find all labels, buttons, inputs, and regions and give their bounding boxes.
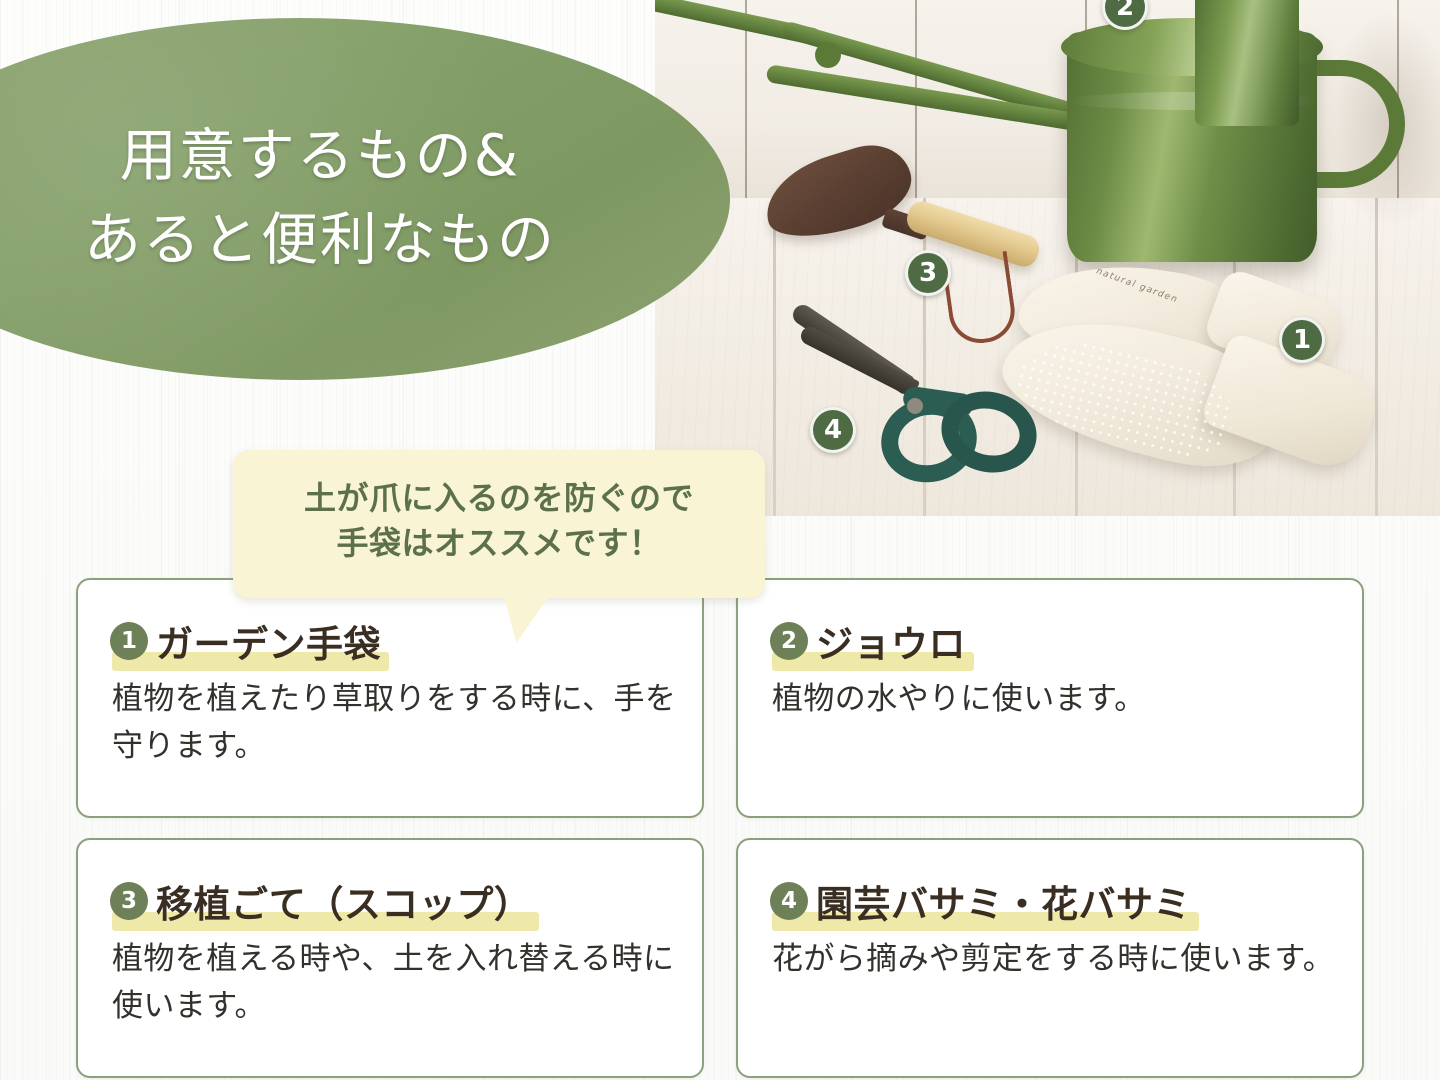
page-title-line-1: 用意するもの& [0,114,730,198]
photo-badge-3: 3 [905,250,951,296]
card-number-badge: 1 [110,622,148,660]
photo-deck-seam [773,198,776,516]
card-title: 移植ごて（スコップ） [156,874,531,928]
infographic-page: Bonheur le jardin enchanté natural garde… [0,0,1440,1080]
card-description: 植物を植える時や、土を入れ替える時に使います。 [112,936,678,1030]
item-card-trowel[interactable]: 3 移植ごて（スコップ） 植物を植える時や、土を入れ替える時に使います。 [76,838,704,1078]
scissors-pivot-screw [907,398,923,414]
item-card-garden-gloves[interactable]: 1 ガーデン手袋 植物を植えたり草取りをする時に、手を守ります。 [76,578,704,818]
card-number-badge: 2 [770,622,808,660]
card-number-badge: 4 [770,882,808,920]
card-title-wrap: ジョウロ [816,614,966,668]
photo-badge-4: 4 [810,407,856,453]
card-title: 園芸バサミ・花バサミ [816,874,1191,928]
speech-bubble-tail [498,595,549,643]
card-header: 2 ジョウロ [770,614,966,668]
card-title-wrap: 園芸バサミ・花バサミ [816,874,1191,928]
card-description: 花がら摘みや剪定をする時に使います。 [772,936,1338,983]
page-title: 用意するもの& あると便利なもの [0,114,730,283]
tip-line-2: 手袋はオススメです！ [233,521,765,566]
item-card-watering-can[interactable]: 2 ジョウロ 植物の水やりに使います。 [736,578,1364,818]
item-card-garden-scissors[interactable]: 4 園芸バサミ・花バサミ 花がら摘みや剪定をする時に使います。 [736,838,1364,1078]
watering-can-spout [1195,0,1299,126]
card-title-wrap: 移植ごて（スコップ） [156,874,531,928]
card-header: 1 ガーデン手袋 [110,614,381,668]
title-ellipse: 用意するもの& あると便利なもの [0,18,730,380]
page-title-line-2: あると便利なもの [0,198,730,282]
card-header: 4 園芸バサミ・花バサミ [770,874,1191,928]
card-description: 植物を植えたり草取りをする時に、手を守ります。 [112,676,678,770]
card-title-wrap: ガーデン手袋 [156,614,381,668]
card-title: ガーデン手袋 [156,614,381,668]
photo-badge-1: 1 [1279,317,1325,363]
card-description: 植物の水やりに使います。 [772,676,1338,723]
card-number-badge: 3 [110,882,148,920]
tip-speech-bubble-text: 土が爪に入るのを防ぐので 手袋はオススメです！ [233,476,765,567]
watering-can-joint [815,42,841,68]
tip-speech-bubble: 土が爪に入るのを防ぐので 手袋はオススメです！ [233,450,765,598]
card-header: 3 移植ごて（スコップ） [110,874,531,928]
gardening-tools-photo: Bonheur le jardin enchanté natural garde… [655,0,1440,516]
card-title: ジョウロ [816,614,966,668]
tip-line-1: 土が爪に入るのを防ぐので [233,476,765,521]
